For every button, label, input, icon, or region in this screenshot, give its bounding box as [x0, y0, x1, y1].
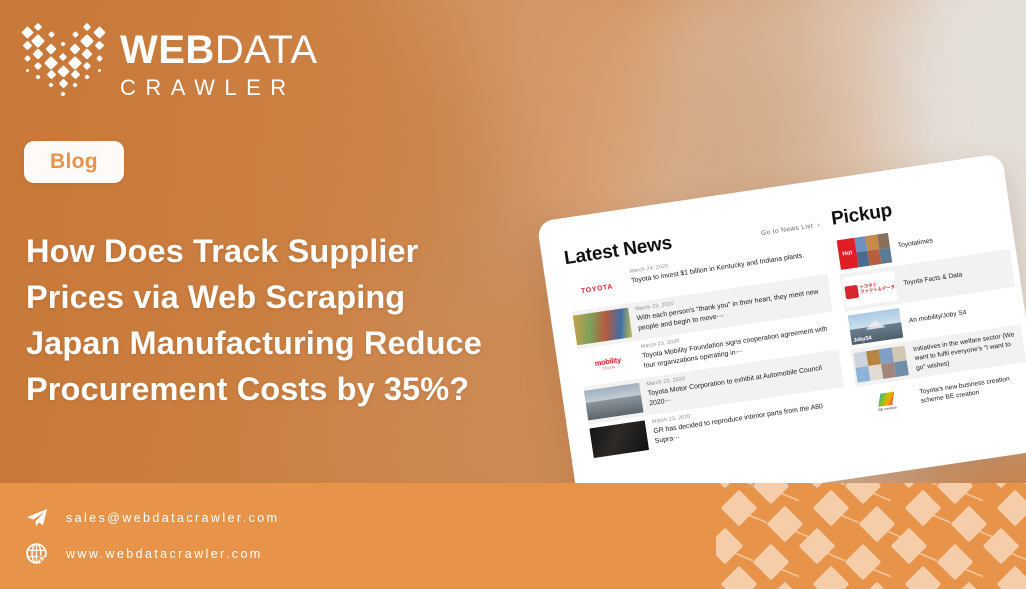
silver-car-photo-thumb	[584, 383, 644, 421]
toyota-logo-thumb: TOYOTA	[567, 270, 627, 308]
page-title-line-2: Prices via Web Scraping	[26, 274, 586, 320]
category-badge[interactable]: Blog	[24, 141, 124, 183]
pickup-column: Pickup Hot Toyotatimes	[830, 184, 1026, 425]
welfare-collage-thumb	[853, 346, 909, 383]
toyota-mobility-logo-thumb: mobilityTOYOTA	[578, 345, 638, 383]
brand-name-sub: CRAWLER	[120, 77, 318, 99]
pickup-item-title: Toyotatimes	[897, 226, 1005, 251]
go-to-news-list-label: Go to News List	[761, 223, 814, 238]
latest-news-column: Latest News Go to News List › TOYOTA Mar…	[563, 211, 850, 464]
dark-interior-photo-thumb	[589, 420, 649, 458]
toyota-facts-data-logo-thumb: トヨタとファクト＆データ	[842, 270, 898, 307]
page-title-line-3: Japan Manufacturing Reduce	[26, 320, 586, 366]
contact-website-text: www.webdatacrawler.com	[66, 547, 263, 561]
brand-wordmark: WEB DATA CRAWLER	[120, 30, 318, 99]
contact-email-text: sales@webdatacrawler.com	[66, 511, 279, 525]
category-badge-label: Blog	[50, 150, 98, 173]
brand-name-light: DATA	[215, 30, 318, 70]
contact-email-row[interactable]: sales@webdatacrawler.com	[24, 500, 279, 536]
globe-cursor-icon	[24, 541, 50, 567]
pickup-item-title: Toyota's new business creation scheme BE…	[919, 372, 1026, 406]
brand-name-bold: WEB	[120, 30, 215, 70]
diamond-network-pattern-icon	[716, 483, 1026, 589]
page-title-line-4: Procurement Costs by 35%?	[26, 366, 586, 412]
people-photo-thumb	[573, 307, 633, 345]
paper-plane-icon	[24, 505, 50, 531]
page-title: How Does Track Supplier Prices via Web S…	[26, 228, 586, 413]
toyota-times-logo-thumb: Hot	[837, 233, 893, 270]
be-creation-logo-thumb: BE creation	[859, 383, 915, 420]
w-dot-matrix-logo-icon	[20, 22, 106, 106]
pickup-item-title: Toyota Facts & Data	[903, 264, 1011, 289]
blog-banner: WEB DATA CRAWLER Blog How Does Track Sup…	[0, 0, 1026, 589]
brand-logo[interactable]: WEB DATA CRAWLER	[20, 22, 318, 106]
contact-website-row[interactable]: www.webdatacrawler.com	[24, 536, 279, 572]
joby-s4-aircraft-photo-thumb: JobyS4	[848, 308, 904, 345]
chevron-right-icon: ›	[815, 222, 821, 230]
page-title-line-1: How Does Track Supplier	[26, 228, 586, 274]
pickup-item-title: An mobility/Joby S4	[908, 301, 1016, 326]
footer-bar: sales@webdatacrawler.com www.webdatacraw…	[0, 483, 1026, 589]
